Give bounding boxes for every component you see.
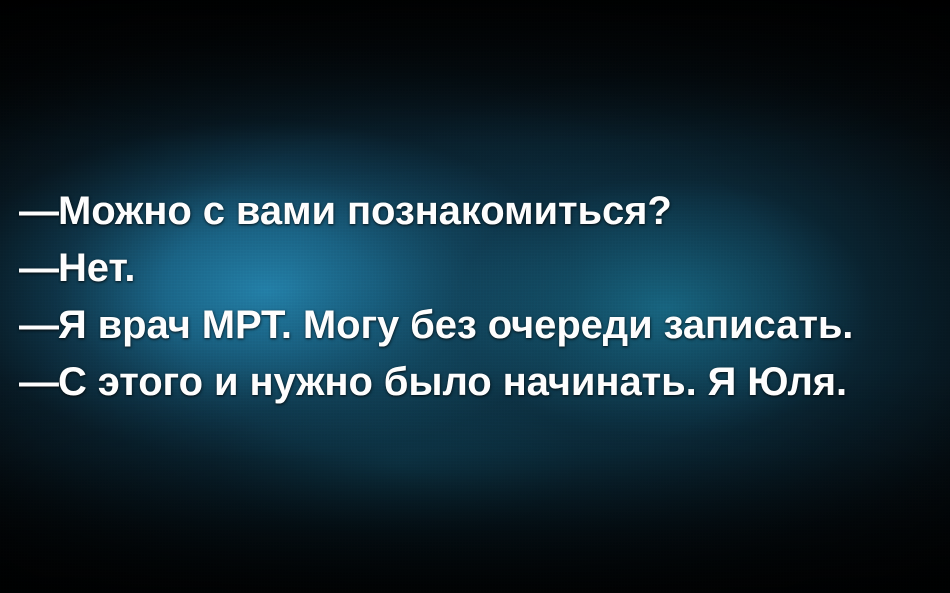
caption-line: — С этого и нужно было начинать. Я Юля. bbox=[19, 354, 950, 411]
caption-line: — Я врач МРТ. Могу без очереди записать. bbox=[19, 297, 950, 354]
caption-line: — Нет. bbox=[19, 240, 950, 297]
caption-line-text: С этого и нужно было начинать. Я Юля. bbox=[58, 354, 847, 411]
meme-image: — Можно с вами познакомиться? — Нет. — Я… bbox=[0, 0, 950, 593]
caption-line-text: Можно с вами познакомиться? bbox=[58, 183, 672, 240]
caption-block: — Можно с вами познакомиться? — Нет. — Я… bbox=[0, 0, 950, 593]
em-dash-marker: — bbox=[19, 240, 45, 297]
em-dash-marker: — bbox=[19, 183, 45, 240]
em-dash-marker: — bbox=[19, 354, 45, 411]
em-dash-marker: — bbox=[19, 297, 45, 354]
caption-line: — Можно с вами познакомиться? bbox=[19, 183, 950, 240]
caption-line-text: Нет. bbox=[58, 240, 135, 297]
caption-line-text: Я врач МРТ. Могу без очереди записать. bbox=[58, 297, 853, 354]
